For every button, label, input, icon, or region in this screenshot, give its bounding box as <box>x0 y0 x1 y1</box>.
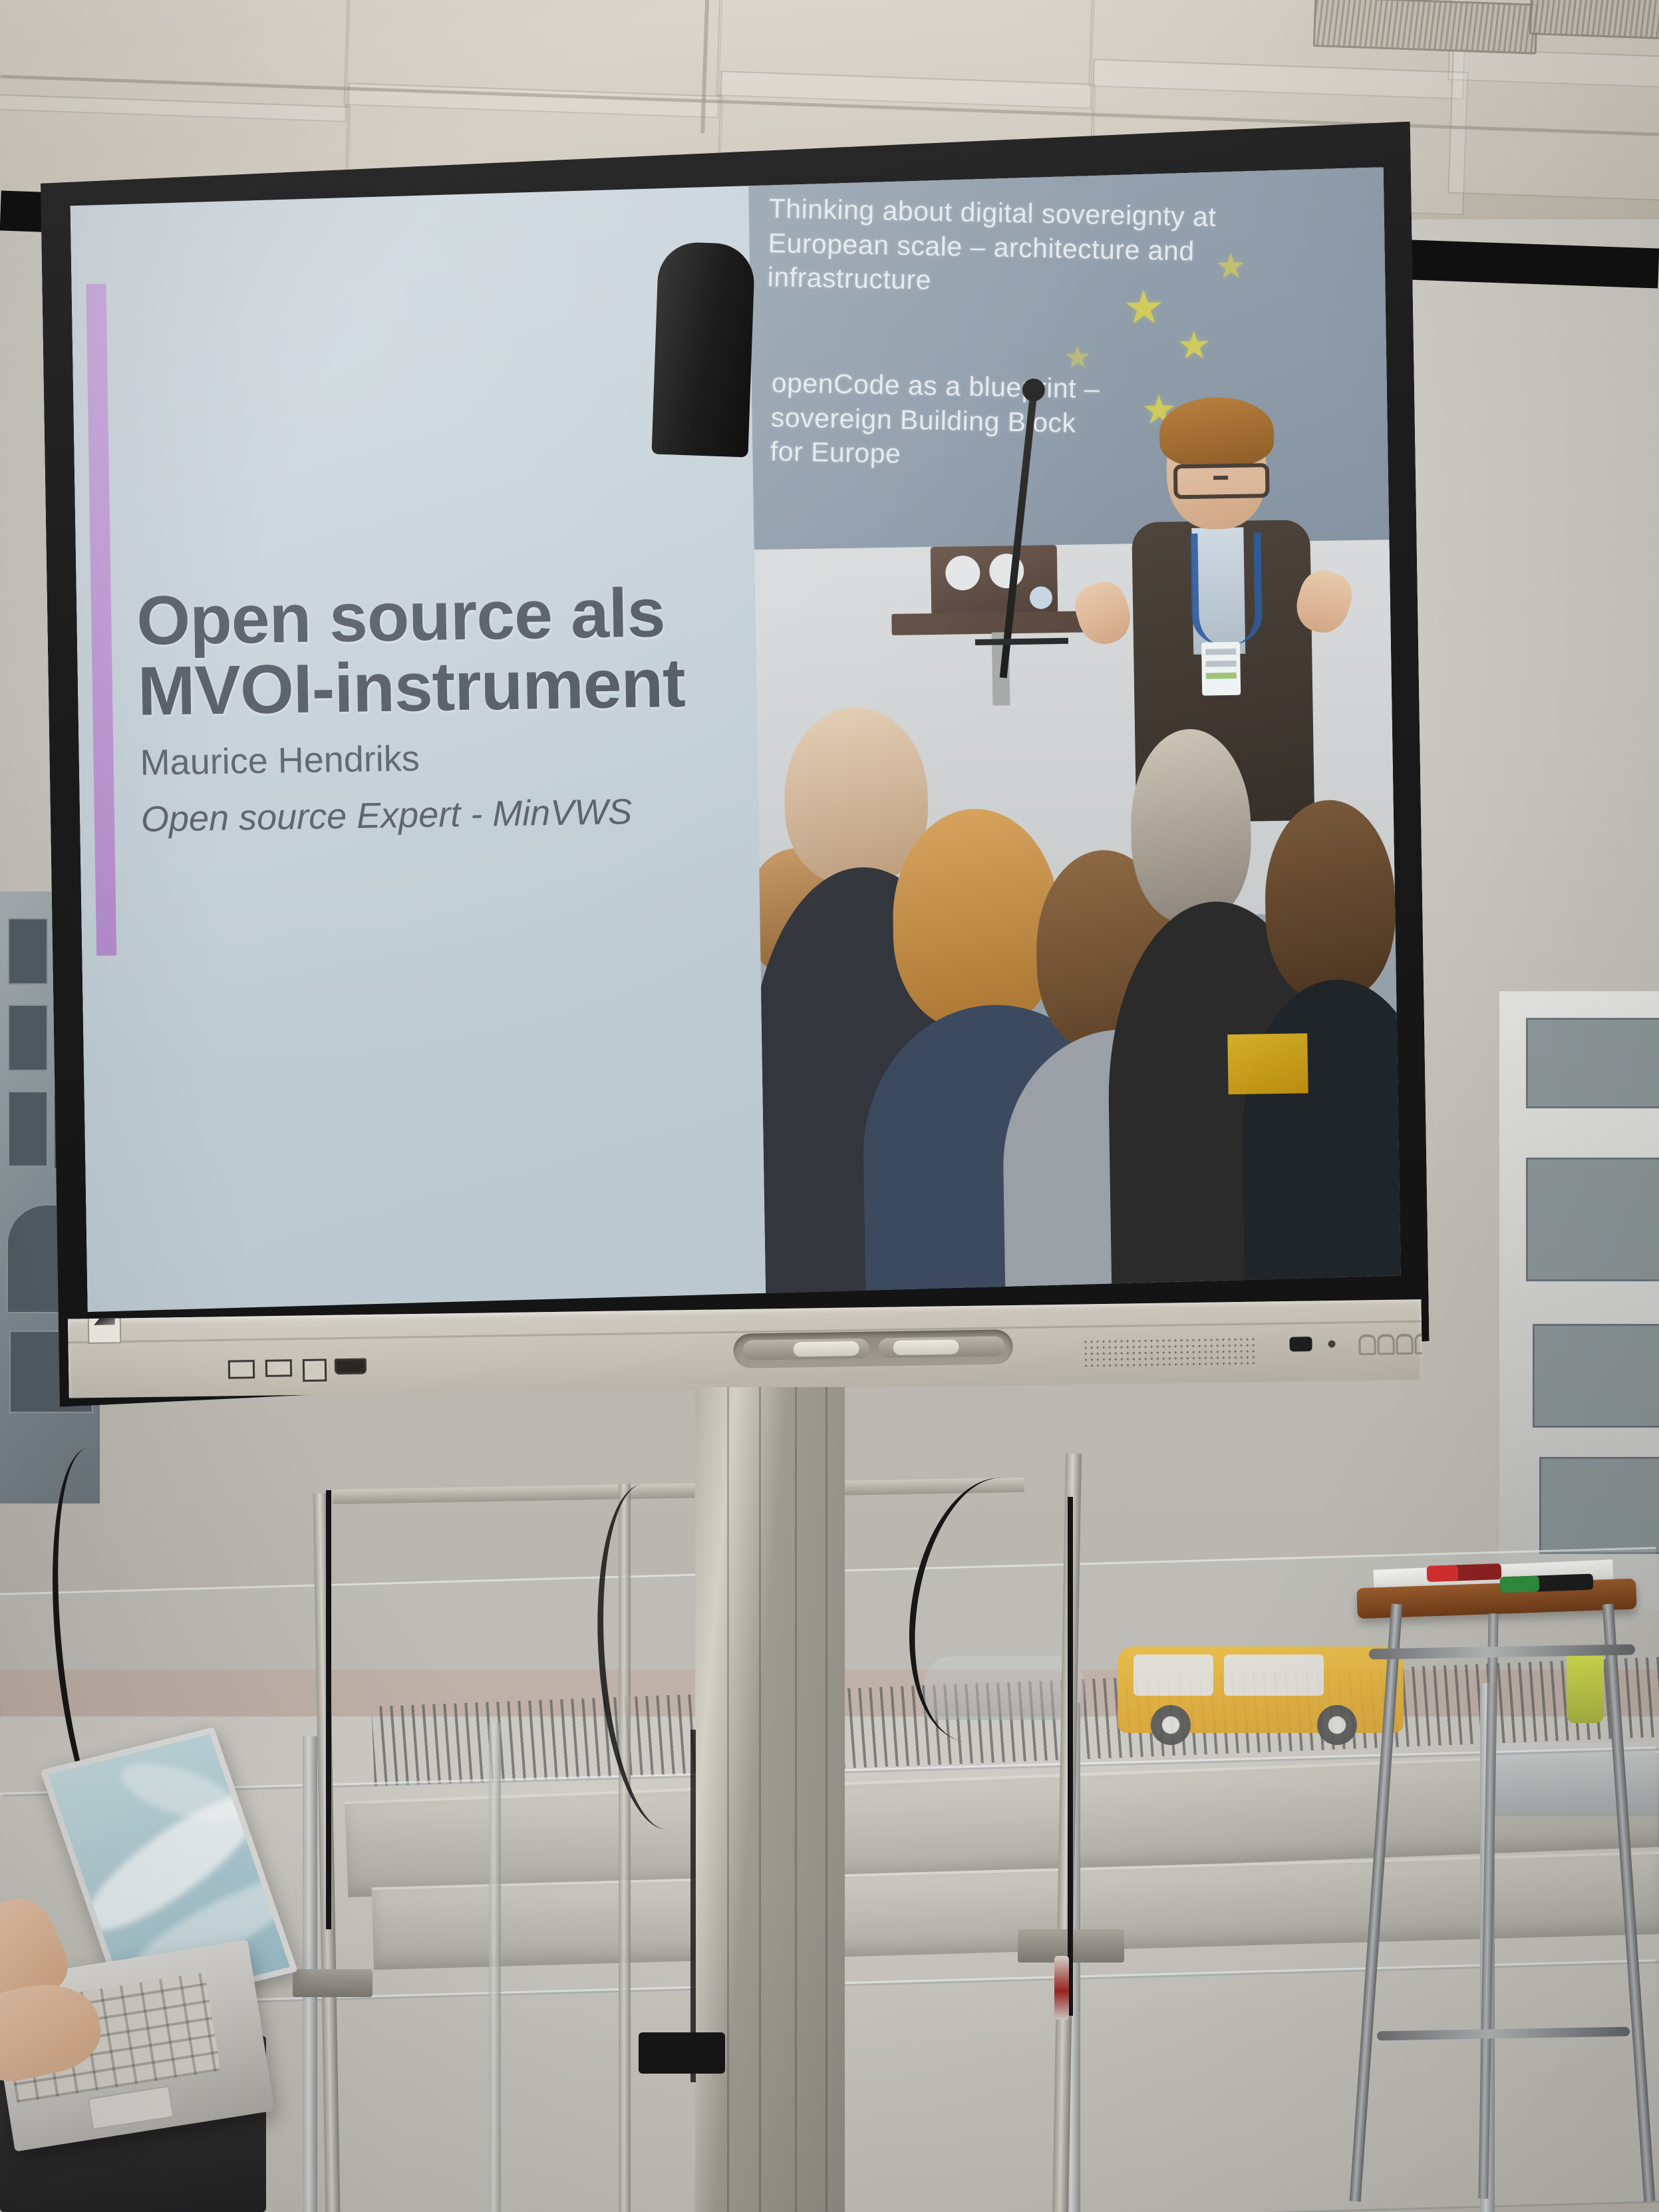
building-right <box>1499 991 1659 1610</box>
presenter-role: Open source Expert - MinVWS <box>141 788 807 840</box>
ceiling-vent <box>1529 0 1659 40</box>
glasses-icon <box>1173 463 1270 499</box>
power-led <box>1328 1341 1336 1348</box>
photo-scene: Ministerie van Volksgezondheid, Welzijn … <box>0 0 1659 2212</box>
railing-post <box>489 1723 501 2212</box>
projected-heading: Thinking about digital sovereignty at Eu… <box>767 192 1368 306</box>
stylus-tray[interactable] <box>733 1329 1013 1368</box>
lanyard <box>1190 532 1263 645</box>
hdmi-port[interactable] <box>335 1358 367 1375</box>
speaker-grille <box>1082 1337 1256 1368</box>
bezel-button[interactable] <box>1396 1334 1413 1354</box>
bezel-button[interactable] <box>1377 1334 1394 1354</box>
green-marker[interactable] <box>1500 1574 1594 1593</box>
usb-port[interactable] <box>265 1359 292 1377</box>
stylus-pen-left[interactable] <box>742 1339 869 1360</box>
presenter-name: Maurice Hendriks <box>140 732 806 784</box>
ceiling-speaker-mount <box>651 241 755 458</box>
usb-port[interactable] <box>228 1360 255 1379</box>
stand-column <box>695 1387 845 2212</box>
stylus-pen-right[interactable] <box>878 1336 1004 1358</box>
stand-foot <box>293 1969 373 1997</box>
laptop-trackpad[interactable] <box>88 2086 174 2130</box>
ir-sensor <box>1289 1337 1312 1352</box>
port-panel[interactable] <box>228 1356 355 1384</box>
audio-plug <box>1054 1956 1069 2020</box>
usb-b-port[interactable] <box>303 1358 327 1382</box>
ceiling-vent <box>1313 0 1538 55</box>
power-adapter <box>639 2032 725 2074</box>
slide-accent-bar <box>86 283 116 955</box>
badge <box>1201 642 1241 696</box>
podium-laptop <box>931 545 1058 620</box>
bezel-button[interactable] <box>1358 1335 1376 1355</box>
conference-photo: ★ ★ ★ ★ ★ Thinking about digital soverei… <box>748 167 1401 1301</box>
red-marker[interactable] <box>1427 1563 1502 1582</box>
